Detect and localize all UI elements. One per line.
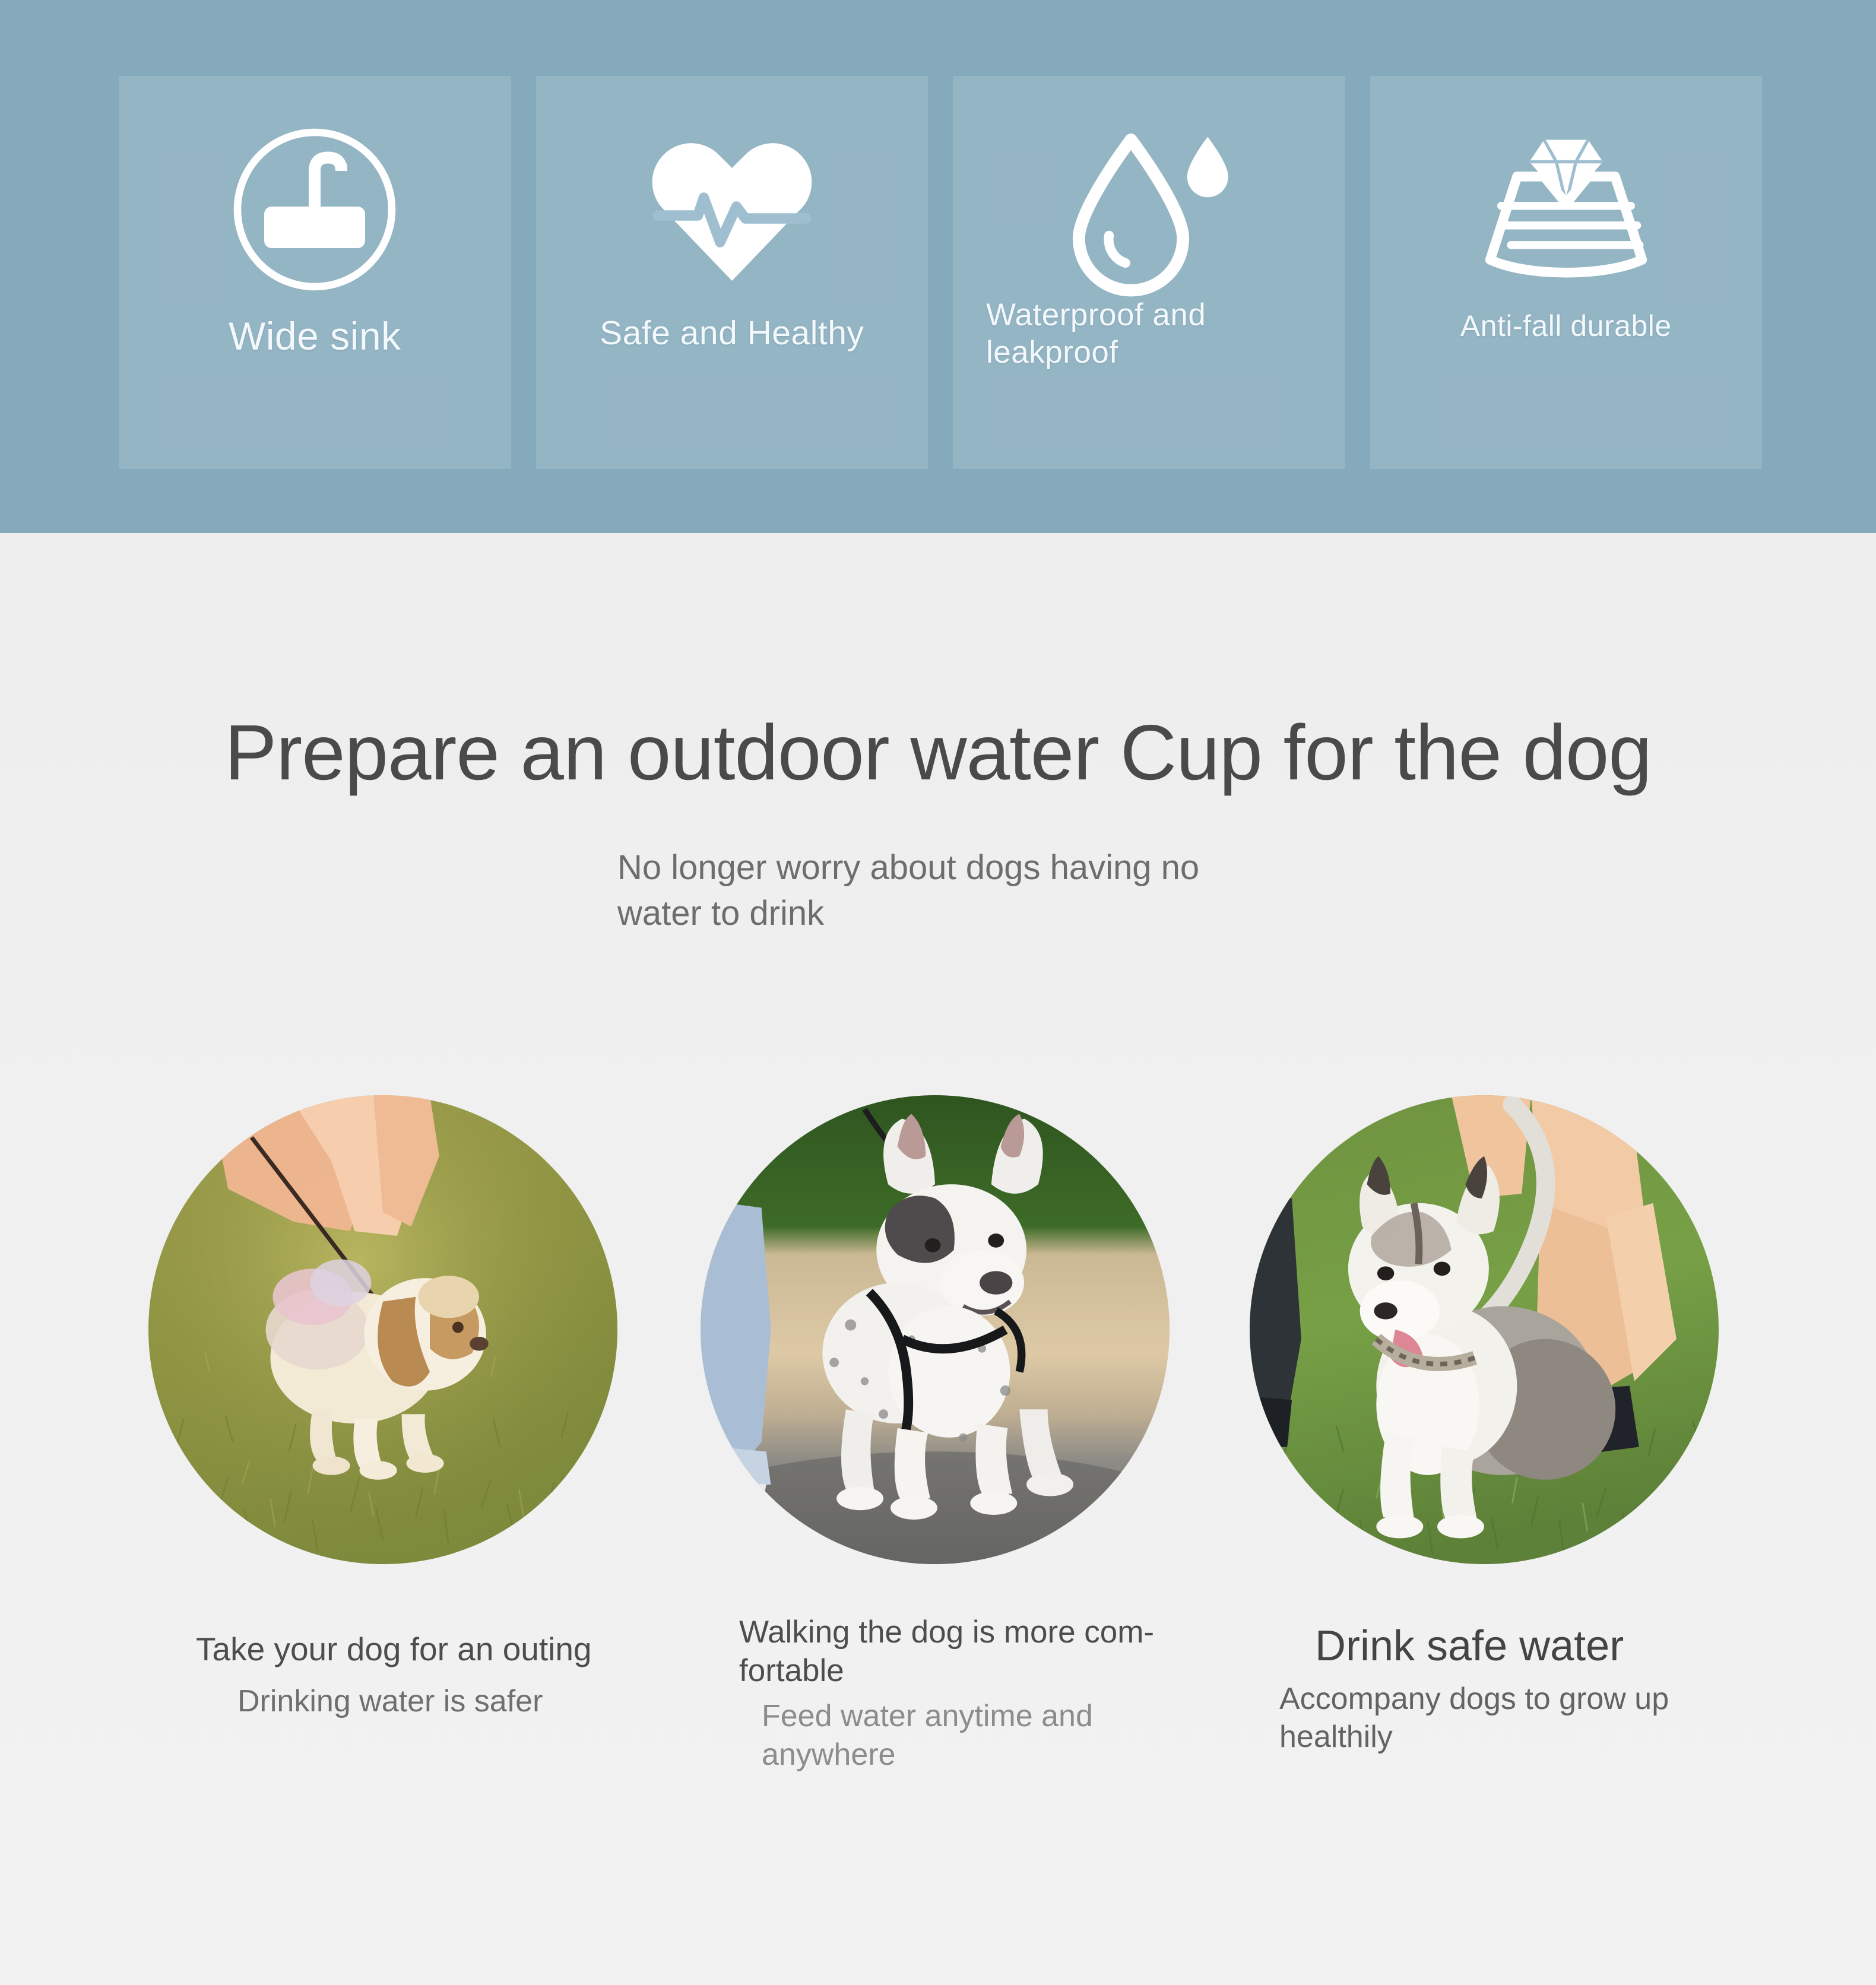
dog-photo-bulldog-walk[interactable] [701,1095,1170,1564]
dog-photo-outing[interactable] [148,1095,617,1564]
feature-card-wide-sink[interactable]: Wide sink [119,76,511,469]
caption-title: Drink safe water [1315,1621,1719,1673]
caption-subtitle: Feed water anytime and anywhere [762,1697,1155,1774]
feature-band: Wide sink Safe and Healthy [0,0,1876,533]
caption-subtitle: Accompany dogs to grow up healthily [1279,1680,1719,1756]
feature-card-waterproof-leakproof[interactable]: Waterproof and leakproof [953,76,1345,469]
gallery-caption: Walking the dog is more com-fortable Fee… [739,1613,1155,1774]
caption-title: Take your dog for an outing [196,1629,647,1669]
feature-card-anti-fall-durable[interactable]: Anti-fall durable [1370,76,1763,469]
feature-card-label: Safe and Healthy [536,313,929,353]
feature-card-label: Wide sink [119,313,511,360]
heart-pulse-icon [536,112,929,307]
feature-card-label: Waterproof and leakproof [953,297,1345,371]
feature-card-list: Wide sink Safe and Healthy [119,76,1762,469]
feature-card-label: Anti-fall durable [1370,309,1763,344]
photo-gallery [0,1095,1876,1570]
caption-subtitle: Drinking water is safer [237,1682,647,1720]
page-title: Prepare an outdoor water Cup for the dog [0,708,1876,797]
dog-photo-husky[interactable] [1250,1095,1719,1564]
product-detail-page: Wide sink Safe and Healthy [0,0,1876,1985]
gallery-caption: Drink safe water Accompany dogs to grow … [1279,1621,1719,1756]
page-subtitle: No longer worry about dogs having no wat… [617,845,1270,936]
sink-in-circle-icon [119,112,511,307]
gallery-item[interactable] [148,1095,617,1564]
feature-card-safe-and-healthy[interactable]: Safe and Healthy [536,76,929,469]
caption-title: Walking the dog is more com-fortable [739,1613,1155,1690]
water-drop-icon [953,112,1345,307]
gallery-item[interactable] [701,1095,1170,1564]
diamond-shield-icon [1370,112,1763,307]
gallery-item[interactable] [1250,1095,1719,1564]
gallery-caption: Take your dog for an outing Drinking wat… [196,1629,647,1721]
